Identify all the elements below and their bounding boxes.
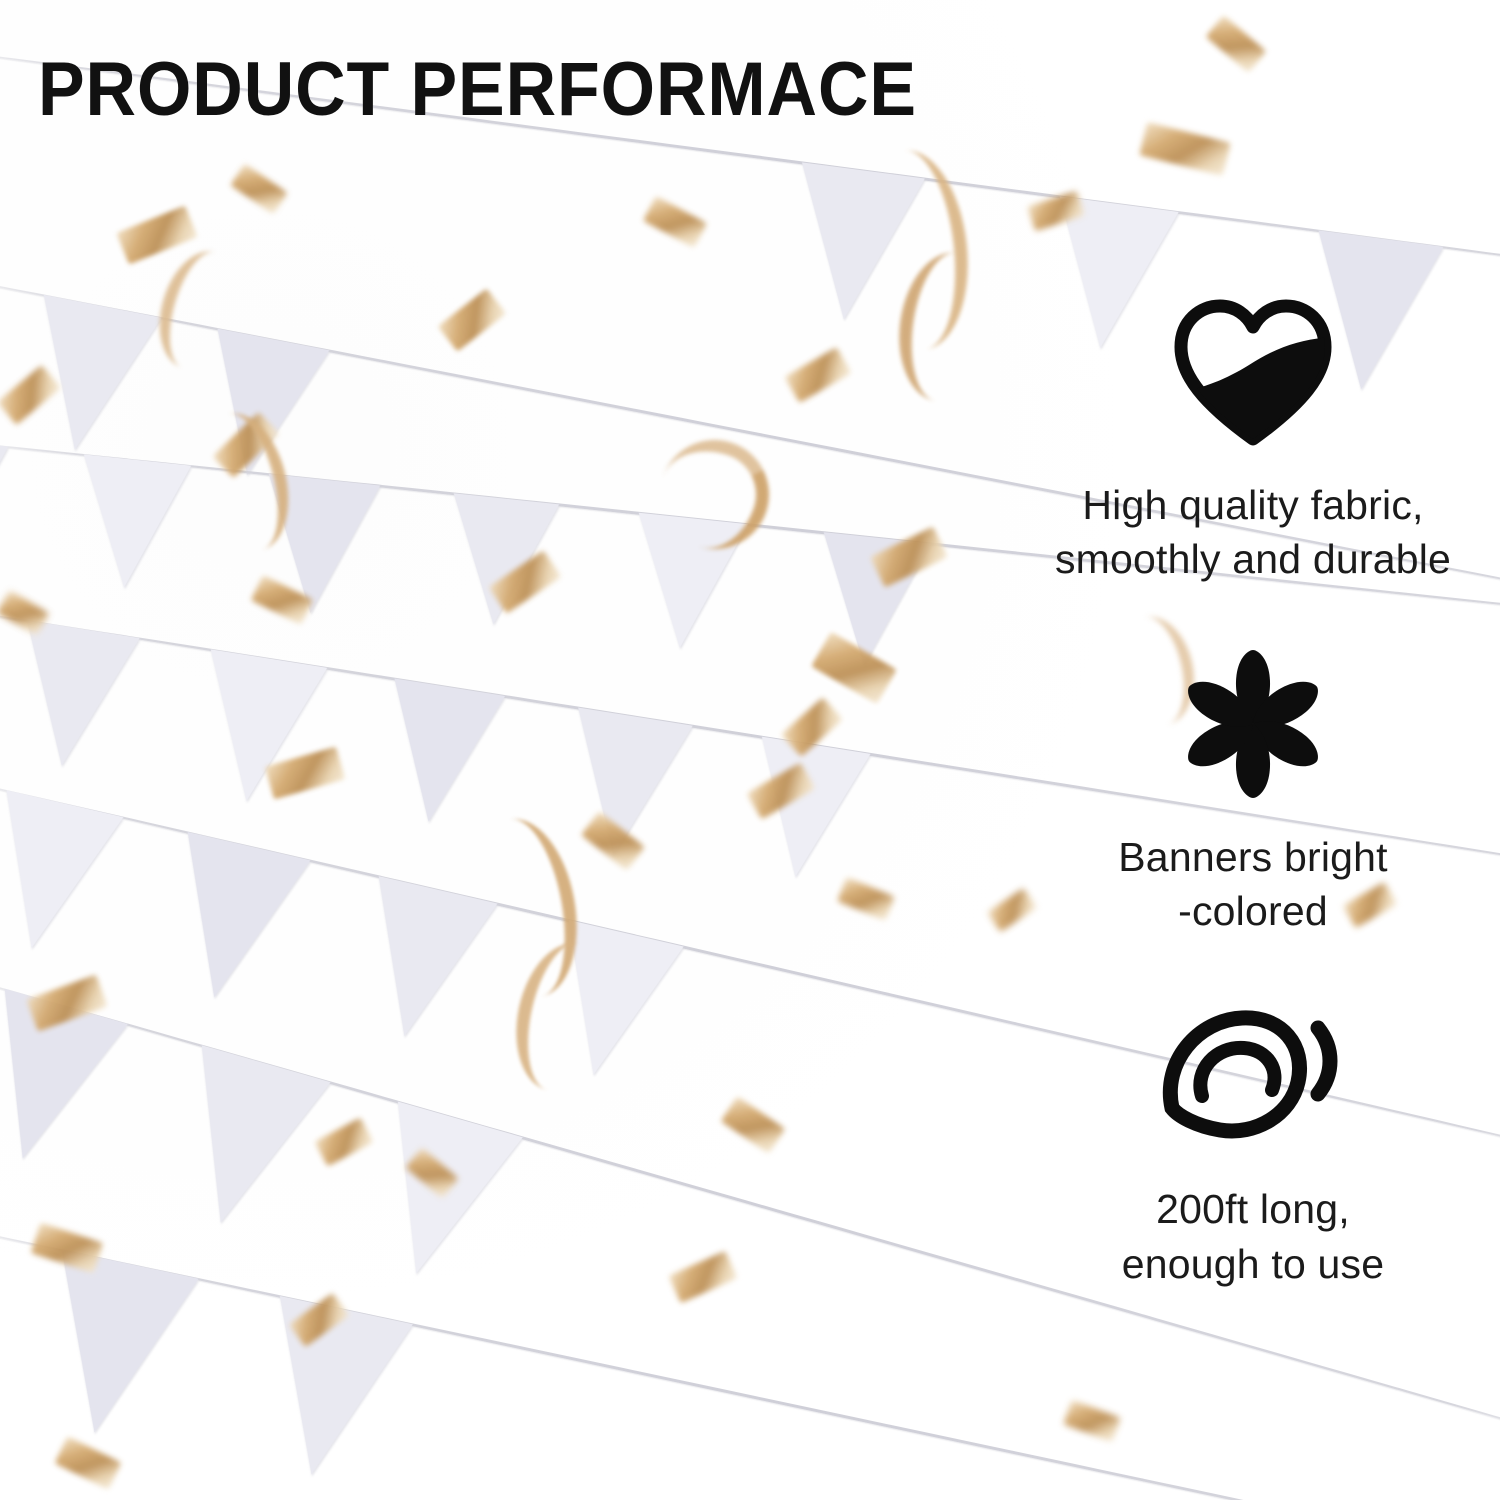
feature-caption: 200ft long, enough to use xyxy=(1122,1182,1385,1290)
confetti-piece xyxy=(1139,122,1231,176)
pennant xyxy=(354,1102,523,1292)
confetti-piece xyxy=(314,1117,373,1166)
confetti-piece xyxy=(643,196,707,248)
page-title: PRODUCT PERFORMACE xyxy=(38,52,917,128)
pennant xyxy=(153,832,311,1011)
pennant xyxy=(70,454,191,593)
confetti-piece xyxy=(116,205,197,264)
confetti-piece xyxy=(669,1251,738,1304)
flower-icon xyxy=(1173,644,1333,804)
feature-item: 200ft long, enough to use xyxy=(1034,996,1472,1290)
confetti-piece xyxy=(1206,15,1267,72)
feature-caption: High quality fabric, smoothly and durabl… xyxy=(1055,478,1451,586)
heart-icon xyxy=(1173,292,1333,452)
feature-item: Banners bright -colored xyxy=(1034,644,1472,938)
confetti-piece xyxy=(785,347,852,403)
ribbon-spiral-icon xyxy=(1158,996,1348,1156)
feature-caption: Banners bright -colored xyxy=(1118,830,1387,938)
pennant xyxy=(0,435,8,578)
pennant xyxy=(156,1045,330,1241)
confetti-piece xyxy=(721,1096,786,1153)
confetti-piece xyxy=(837,877,895,921)
pennant xyxy=(373,678,505,830)
confetti-piece xyxy=(230,164,288,215)
product-feature-panel: PRODUCT PERFORMACE xyxy=(0,0,1500,1500)
confetti-piece xyxy=(438,288,507,351)
confetti-piece xyxy=(1063,1400,1121,1442)
feature-list: High quality fabric, smoothly and durabl… xyxy=(1034,292,1472,1291)
confetti-piece xyxy=(987,888,1037,933)
pennant xyxy=(26,1250,199,1447)
pennant xyxy=(5,620,139,774)
feature-item: High quality fabric, smoothly and durabl… xyxy=(1034,292,1472,586)
confetti-piece xyxy=(54,1436,121,1489)
pennant xyxy=(0,790,124,961)
